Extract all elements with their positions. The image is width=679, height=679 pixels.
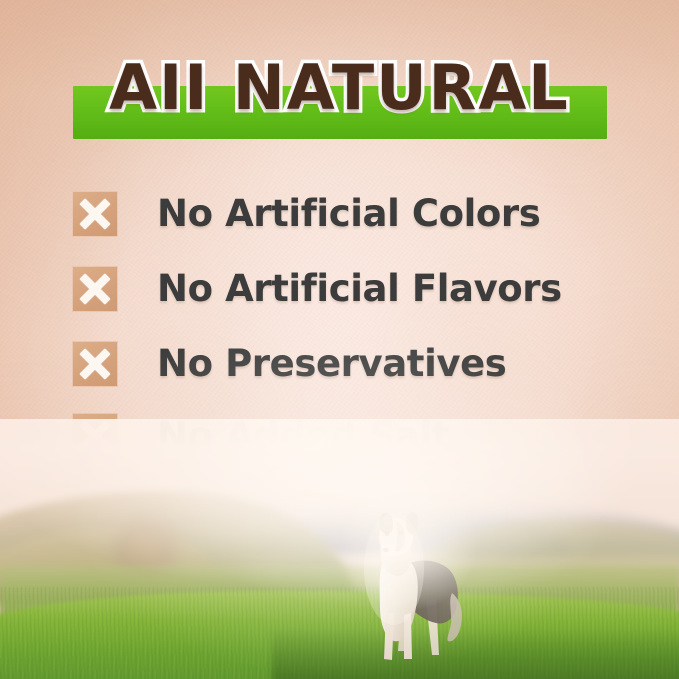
list-item: No Artificial Flavors: [72, 251, 632, 326]
list-item: No Artificial Colors: [72, 176, 632, 251]
x-mark-icon: [72, 266, 118, 312]
x-mark-icon: [72, 341, 118, 387]
list-item: No Preservatives: [72, 326, 632, 401]
all-natural-infographic: AII NATURAL No Artificial Colors No Arti…: [0, 0, 679, 679]
dog-figure: [352, 509, 476, 669]
landscape-photo: [0, 419, 679, 679]
benefit-label: No Preservatives: [157, 342, 506, 386]
benefit-label: No Artificial Flavors: [157, 267, 562, 311]
x-mark-icon: [72, 191, 118, 237]
page-title: AII NATURAL: [0, 52, 679, 124]
headline-banner: AII NATURAL: [0, 52, 679, 128]
benefit-label: No Artificial Colors: [157, 192, 540, 236]
